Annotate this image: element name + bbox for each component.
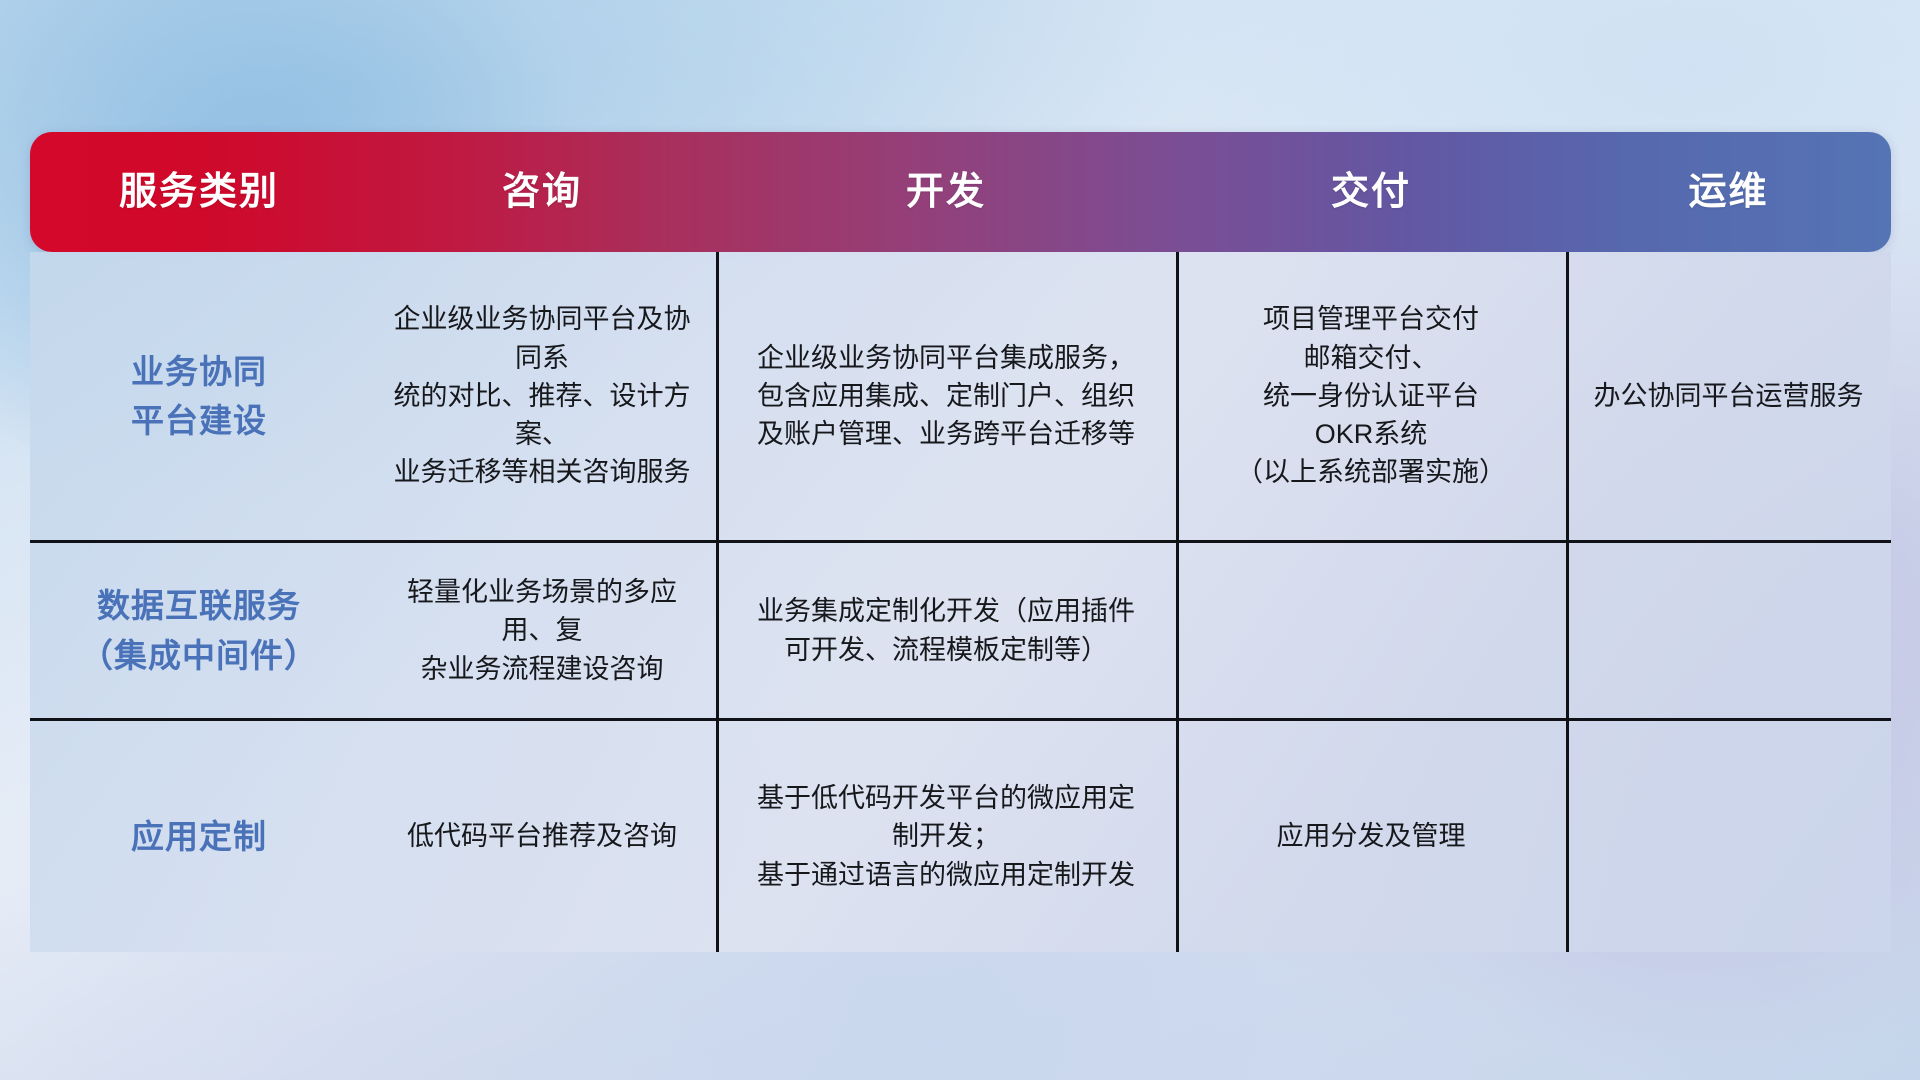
service-matrix-table: 服务类别 咨询 开发 交付 运维 业务协同 平台建设 企业级业务协同平台及协同系… — [30, 132, 1891, 952]
table-row: 业务协同 平台建设 企业级业务协同平台及协同系 统的对比、推荐、设计方案、 业务… — [30, 252, 1891, 540]
column-header-consulting: 咨询 — [368, 132, 716, 252]
cell-operations — [1566, 721, 1891, 952]
cell-consulting: 企业级业务协同平台及协同系 统的对比、推荐、设计方案、 业务迁移等相关咨询服务 — [368, 252, 716, 540]
column-header-operations: 运维 — [1566, 132, 1891, 252]
cell-operations — [1566, 543, 1891, 718]
column-header-development: 开发 — [716, 132, 1176, 252]
cell-category: 应用定制 — [30, 721, 368, 952]
column-header-category: 服务类别 — [30, 132, 368, 252]
table-row: 数据互联服务 （集成中间件） 轻量化业务场景的多应用、复 杂业务流程建设咨询 业… — [30, 540, 1891, 718]
cell-development: 基于低代码开发平台的微应用定 制开发； 基于通过语言的微应用定制开发 — [716, 721, 1176, 952]
cell-consulting: 轻量化业务场景的多应用、复 杂业务流程建设咨询 — [368, 543, 716, 718]
table-header-row: 服务类别 咨询 开发 交付 运维 — [30, 132, 1891, 252]
table-body: 业务协同 平台建设 企业级业务协同平台及协同系 统的对比、推荐、设计方案、 业务… — [30, 252, 1891, 952]
category-label: 数据互联服务 （集成中间件） — [80, 581, 318, 680]
table-row: 应用定制 低代码平台推荐及咨询 基于低代码开发平台的微应用定 制开发； 基于通过… — [30, 718, 1891, 952]
cell-development: 企业级业务协同平台集成服务， 包含应用集成、定制门户、组织 及账户管理、业务跨平… — [716, 252, 1176, 540]
cell-delivery — [1176, 543, 1566, 718]
cell-delivery: 项目管理平台交付 邮箱交付、 统一身份认证平台 OKR系统 （以上系统部署实施） — [1176, 252, 1566, 540]
cell-development: 业务集成定制化开发（应用插件 可开发、流程模板定制等） — [716, 543, 1176, 718]
cell-consulting: 低代码平台推荐及咨询 — [368, 721, 716, 952]
cell-operations: 办公协同平台运营服务 — [1566, 252, 1891, 540]
column-header-delivery: 交付 — [1176, 132, 1566, 252]
category-label: 业务协同 平台建设 — [131, 347, 267, 446]
cell-delivery: 应用分发及管理 — [1176, 721, 1566, 952]
category-label: 应用定制 — [131, 812, 267, 862]
cell-category: 业务协同 平台建设 — [30, 252, 368, 540]
cell-category: 数据互联服务 （集成中间件） — [30, 543, 368, 718]
